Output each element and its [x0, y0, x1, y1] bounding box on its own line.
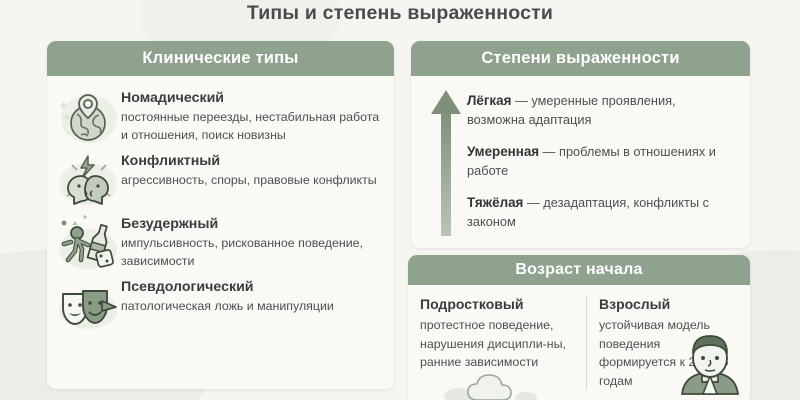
running-man-bottle-dice-icon [55, 211, 121, 273]
list-item[interactable]: Тяжёлая — дезадаптация, конфликты с зако… [467, 193, 736, 231]
age-body: Подростковый протестное поведение, наруш… [408, 285, 750, 390]
list-item-text: Псевдологический патологическая ложь и м… [121, 274, 334, 316]
clinical-type-desc: постоянные переезды, нестабильная работа… [121, 109, 384, 144]
list-item[interactable]: Умеренная — проблемы в отношениях и рабо… [467, 142, 736, 180]
age-column-teen[interactable]: Подростковый протестное поведение, наруш… [408, 295, 586, 390]
man-portrait-icon [672, 332, 748, 394]
age-of-onset-card: Возраст начала Подростковый протестное п… [408, 255, 750, 400]
list-item[interactable]: Лёгкая — умеренные проявления, возможна … [467, 91, 736, 129]
severity-line: Лёгкая — умеренные проявления, возможна … [467, 91, 736, 129]
list-item[interactable]: Номадический постоянные переезды, нестаб… [47, 84, 394, 147]
age-column-name: Подростковый [420, 295, 574, 313]
severity-line: Умеренная — проблемы в отношениях и рабо… [467, 142, 736, 180]
list-item[interactable]: Конфликтный агрессивность, споры, правов… [47, 147, 394, 210]
clinical-type-desc: патологическая ложь и манипуляции [121, 298, 334, 316]
up-arrow-icon [427, 88, 467, 238]
severity-name: Лёгкая [467, 93, 511, 108]
severity-body: Лёгкая — умеренные проявления, возможна … [411, 76, 750, 238]
severity-degrees-header: Степени выраженности [411, 41, 750, 76]
clinical-type-name: Номадический [121, 90, 384, 107]
age-column-name: Взрослый [599, 295, 738, 313]
clinical-types-list: Номадический постоянные переезды, нестаб… [47, 76, 394, 336]
list-item[interactable]: Псевдологический патологическая ложь и м… [47, 273, 394, 336]
two-heads-arguing-icon [55, 148, 121, 210]
clinical-types-header: Клинические типы [47, 41, 394, 76]
severity-dash: — [543, 144, 556, 159]
list-item-text: Номадический постоянные переезды, нестаб… [121, 85, 384, 144]
clinical-type-desc: агрессивность, споры, правовые конфликты [121, 172, 377, 190]
clinical-types-card: Клинические типы Номадический постоянные… [47, 41, 394, 389]
list-item[interactable]: Безудержный импульсивность, рискованное … [47, 210, 394, 273]
severity-dash: — [527, 195, 540, 210]
clinical-type-name: Псевдологический [121, 279, 334, 296]
severity-list: Лёгкая — умеренные проявления, возможна … [467, 88, 736, 238]
list-item-text: Конфликтный агрессивность, споры, правов… [121, 148, 377, 190]
clinical-type-name: Безудержный [121, 216, 384, 233]
page-title: Типы и степень выраженности [0, 2, 800, 25]
severity-name: Умеренная [467, 144, 539, 159]
list-item-text: Безудержный импульсивность, рискованное … [121, 211, 384, 270]
globe-location-pin-icon [55, 85, 121, 147]
severity-degrees-card: Степени выраженности Лёгкая — умеренны [411, 41, 750, 248]
clinical-type-name: Конфликтный [121, 153, 377, 170]
severity-line: Тяжёлая — дезадаптация, конфликты с зако… [467, 193, 736, 231]
severity-name: Тяжёлая [467, 195, 523, 210]
cloud-icon [446, 364, 538, 400]
theatre-masks-icon [55, 274, 121, 336]
clinical-type-desc: импульсивность, рискованное поведение, з… [121, 235, 384, 270]
age-of-onset-header: Возраст начала [408, 255, 750, 285]
severity-dash: — [515, 93, 528, 108]
